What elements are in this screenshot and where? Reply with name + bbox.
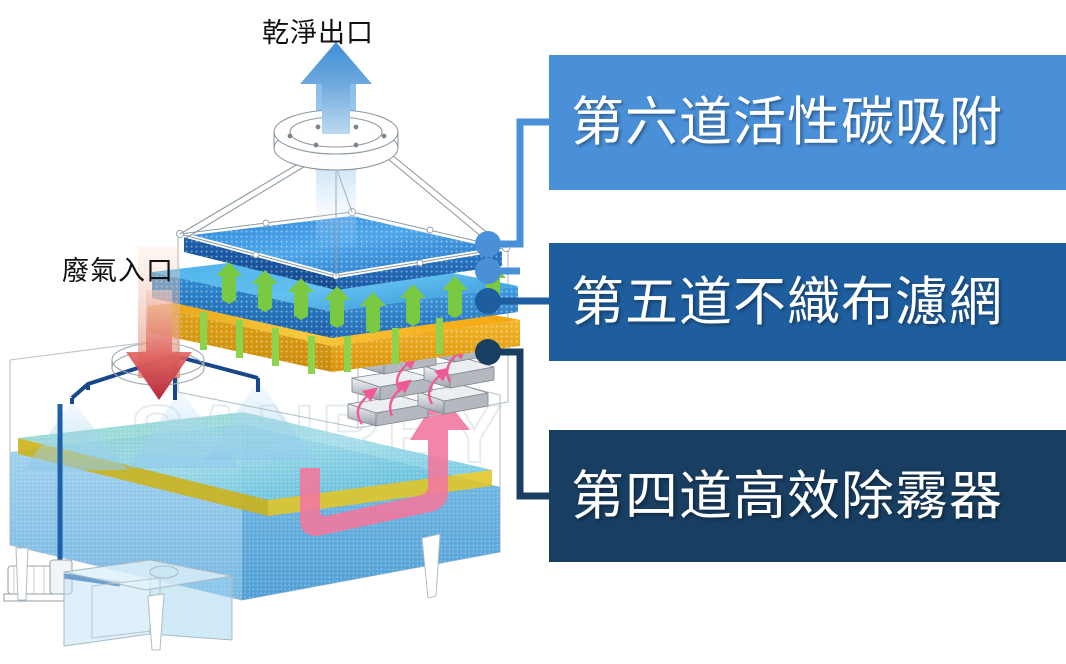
callout-stage-4-label: 第四道高效除霧器 xyxy=(571,470,1003,523)
diagram-canvas: SANREY xyxy=(0,0,1066,664)
caption-exhaust-inlet: 廢氣入口 xyxy=(62,258,174,285)
leader-dot-nonwoven xyxy=(475,288,501,314)
callout-stage-6-label: 第六道活性碳吸附 xyxy=(571,96,1003,149)
callout-leader-dots xyxy=(475,231,501,365)
callout-stage-4[interactable]: 第四道高效除霧器 xyxy=(549,430,1066,562)
callout-stage-6[interactable]: 第六道活性碳吸附 xyxy=(549,55,1066,190)
leader-dot-carbon-b xyxy=(475,258,501,284)
caption-clean-outlet: 乾淨出口 xyxy=(262,20,374,47)
leader-dot-mist xyxy=(475,339,501,365)
callout-stage-5-label: 第五道不織布濾網 xyxy=(571,276,1003,329)
callout-stage-5[interactable]: 第五道不織布濾網 xyxy=(549,243,1066,361)
circulation-pump xyxy=(4,560,72,601)
water-reservoir xyxy=(64,560,232,646)
leader-dot-carbon-a xyxy=(475,231,501,257)
